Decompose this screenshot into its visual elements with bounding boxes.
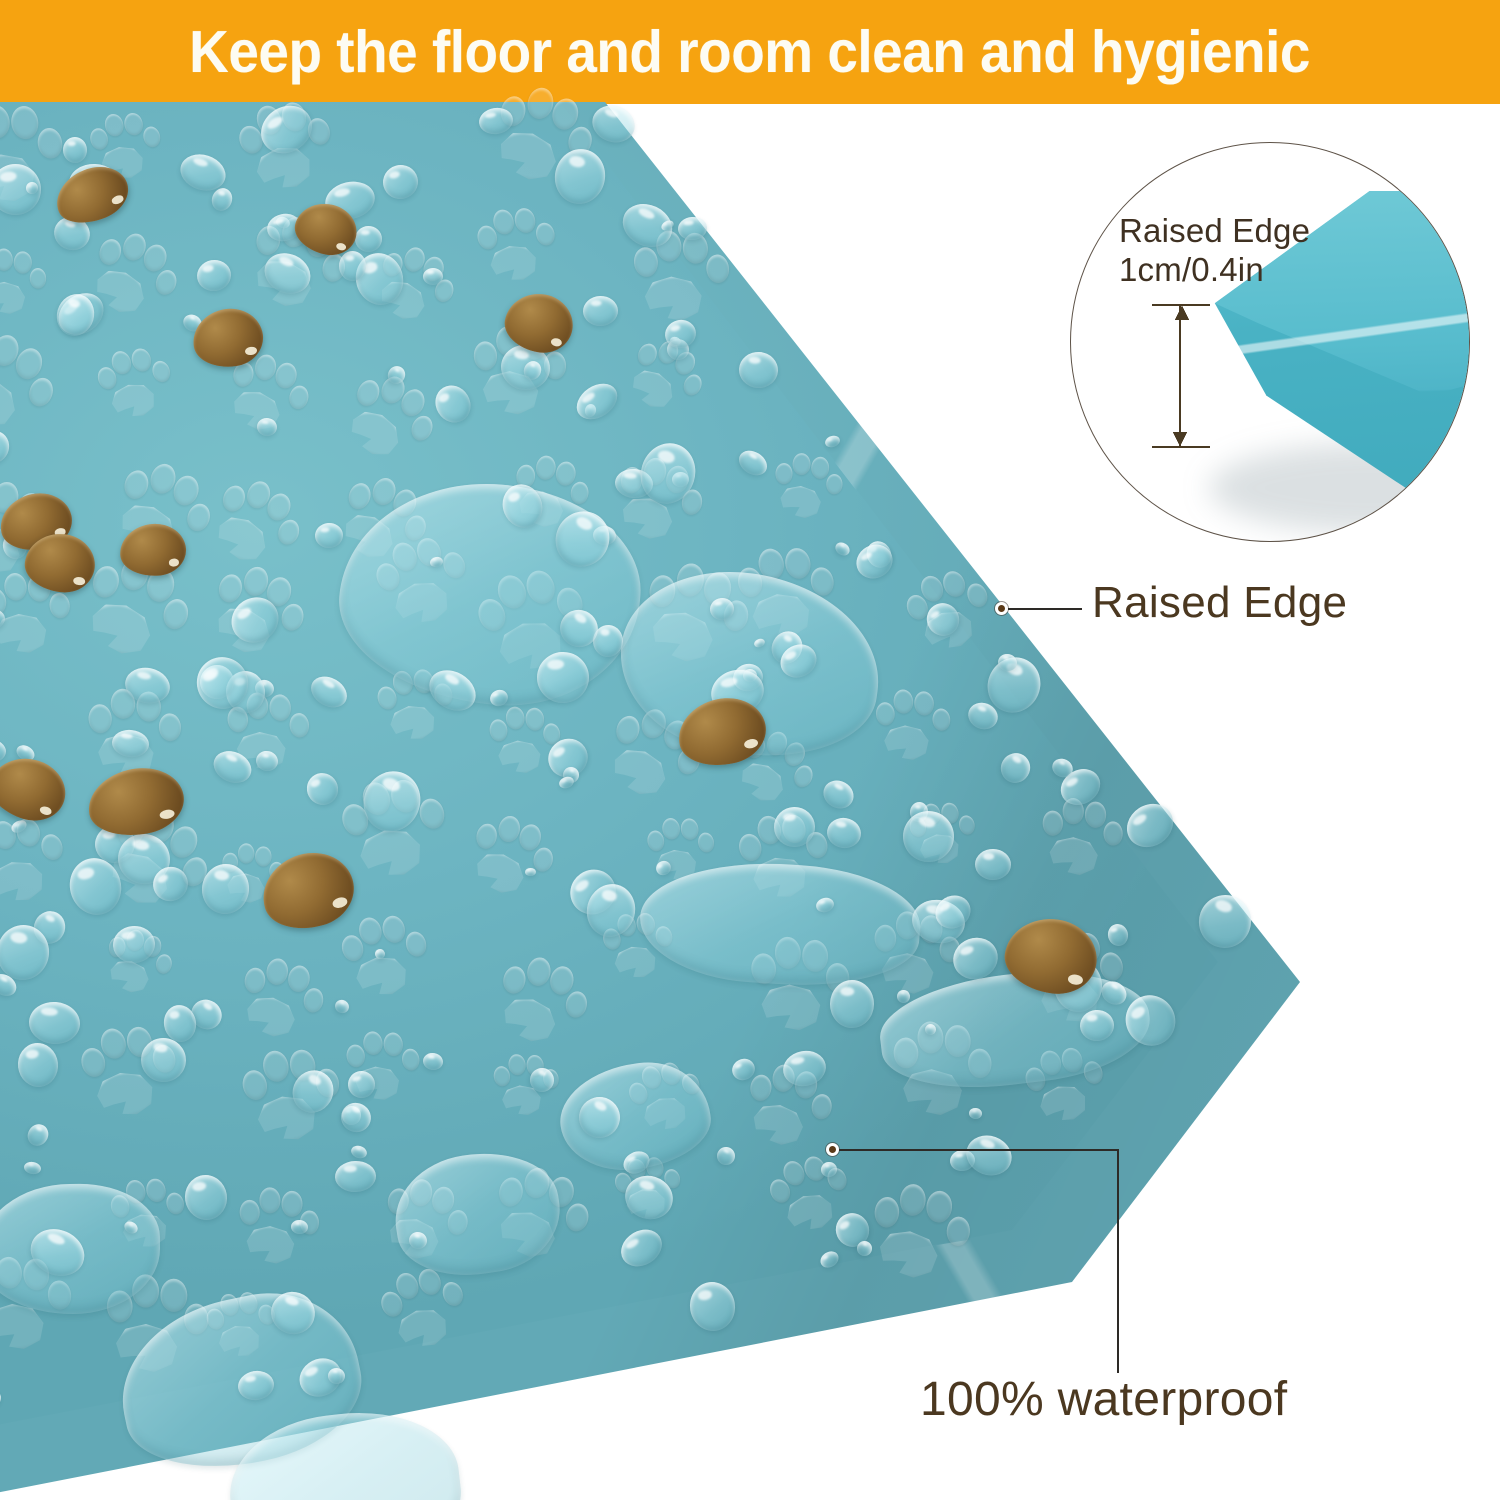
- raised-edge-inset: Raised Edge 1cm/0.4in: [1070, 142, 1470, 542]
- inset-label: Raised Edge 1cm/0.4in: [1119, 211, 1349, 289]
- dimension-cap-bottom: [1152, 446, 1210, 448]
- inset-label-line2: 1cm/0.4in: [1119, 250, 1349, 289]
- headline-text: Keep the floor and room clean and hygien…: [190, 23, 1311, 82]
- waterproof-marker-dot: [826, 1143, 839, 1156]
- callout-label-raised-edge: Raised Edge: [1092, 578, 1347, 628]
- product-feature-image: Keep the floor and room clean and hygien…: [0, 0, 1500, 1500]
- headline-banner: Keep the floor and room clean and hygien…: [0, 0, 1500, 104]
- inset-label-line1: Raised Edge: [1119, 211, 1349, 250]
- dimension-arrow: [1179, 306, 1181, 446]
- raised-edge-leader-line: [1008, 608, 1082, 610]
- waterproof-leader-vertical: [1117, 1149, 1119, 1373]
- callout-label-waterproof: 100% waterproof: [920, 1372, 1287, 1427]
- waterproof-leader-horizontal: [839, 1149, 1119, 1151]
- raised-edge-marker-dot: [995, 602, 1008, 615]
